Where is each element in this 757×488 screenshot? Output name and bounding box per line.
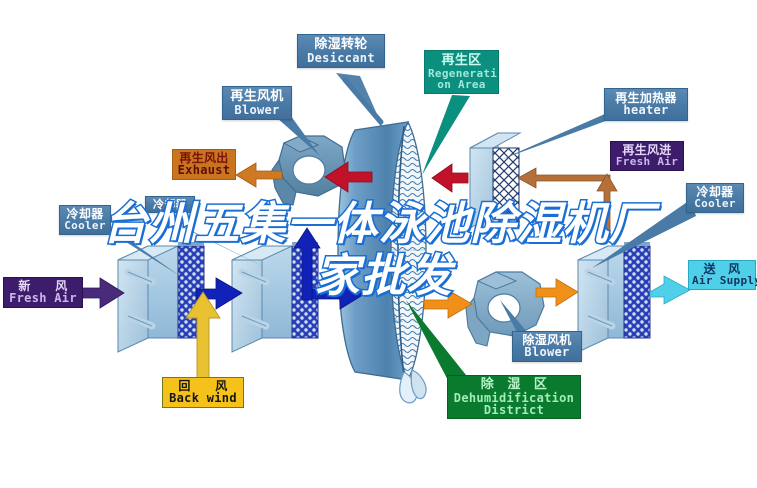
label-regen-heater: 再生加热器 heater: [604, 88, 688, 121]
label-regeneration-area-cn: 再生区: [428, 54, 495, 68]
label-desiccant-rotor: 除湿转轮 Desiccant: [297, 34, 385, 68]
label-exhaust: 再生风出 Exhaust: [172, 149, 236, 180]
label-regen-blower-cn: 再生风机: [227, 90, 287, 104]
arrow-regen-hot-air: [432, 164, 468, 192]
label-regen-fresh-air: 再生风进 Fresh Air: [610, 141, 684, 171]
label-dehumidification-district: 除 湿 区 Dehumidification District: [447, 375, 581, 419]
label-regeneration-area: 再生区 Regenerati on Area: [424, 50, 499, 94]
label-regen-blower-en: Blower: [227, 104, 287, 116]
label-exhaust-en: Exhaust: [177, 164, 231, 176]
label-dehum-blower-en: Blower: [517, 346, 577, 358]
label-dehum-blower: 除湿风机 Blower: [512, 331, 582, 362]
label-dehum-district-cn: 除 湿 区: [452, 378, 576, 392]
label-desiccant-rotor-cn: 除湿转轮: [302, 38, 380, 52]
arrow-heater-feed: [518, 168, 610, 188]
svg-text:xt: xt: [392, 312, 404, 325]
condensate-water-drop: [400, 370, 426, 403]
label-regen-heater-en: heater: [609, 104, 683, 116]
watermark-overlay: 台州五集一体泳池除湿机厂 家批发: [0, 198, 757, 302]
label-dehum-district-en2: District: [452, 404, 576, 416]
watermark-line-1: 台州五集一体泳池除湿机厂: [0, 198, 757, 250]
label-regeneration-area-en2: on Area: [428, 79, 495, 90]
dehumidifier-schematic-diagram: xt: [0, 0, 757, 488]
label-back-wind-en: Back wind: [167, 392, 239, 404]
regeneration-blower: [272, 136, 345, 205]
watermark-line-2: 家批发: [0, 250, 757, 302]
label-desiccant-rotor-en: Desiccant: [302, 52, 380, 64]
label-regen-fresh-air-en: Fresh Air: [615, 156, 679, 167]
label-regen-blower: 再生风机 Blower: [222, 86, 292, 120]
label-back-wind: 回 风 Back wind: [162, 377, 244, 408]
